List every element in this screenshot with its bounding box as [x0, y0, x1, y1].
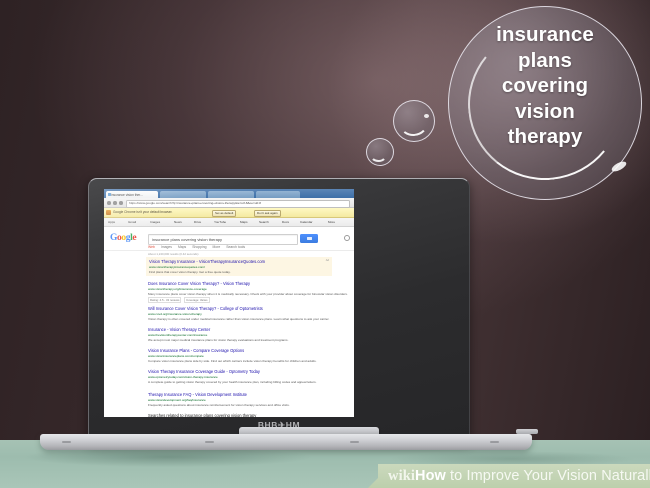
bookmark-gmail[interactable]: Gmail: [128, 220, 136, 224]
reload-icon[interactable]: [119, 201, 123, 205]
base-foot-mid-right: [350, 441, 359, 443]
bookmark-news[interactable]: News: [174, 220, 182, 224]
result-snippet: Frequently asked questions about insuran…: [148, 403, 348, 407]
result-snippet: A complete guide to getting vision thera…: [148, 380, 348, 384]
infobar-secondary-button[interactable]: Don't ask again: [254, 210, 281, 218]
bookmark-calendar[interactable]: Calendar: [300, 220, 313, 224]
gear-icon[interactable]: [344, 235, 350, 241]
result-title[interactable]: Will Insurance Cover Vision Therapy? - C…: [148, 306, 348, 311]
result-rating-value: Rating: 4.5 - 32 reviews: [148, 297, 181, 303]
search-result-5: Vision Therapy Insurance Coverage Guide …: [148, 369, 348, 384]
google-header-divider: [104, 250, 354, 251]
wikihow-brand-wiki: wiki: [388, 468, 415, 484]
result-snippet: Many insurance plans cover vision therap…: [148, 292, 348, 296]
address-bar-url: https://www.google.com/search?q=insuranc…: [129, 201, 261, 205]
result-snippet: Compare vision insurance plans side by s…: [148, 359, 348, 363]
google-nav-maps[interactable]: Maps: [178, 245, 186, 249]
ad-title[interactable]: Vision Therapy Insurance - VisionTherapy…: [149, 259, 329, 264]
google-nav-search-tools[interactable]: Search tools: [226, 245, 245, 249]
result-ratings: Rating: 4.5 - 32 reviews Coverage: Varie…: [148, 297, 348, 303]
wikihow-title: to Improve Your Vision Naturally: [446, 468, 650, 484]
google-results-page: Google insurance plans covering vision t…: [104, 227, 354, 417]
browser-tab-2[interactable]: [160, 191, 206, 199]
thought-bubble-text: insurance plans covering vision therapy: [448, 22, 642, 150]
bookmark-docs[interactable]: Docs: [282, 220, 289, 224]
chrome-infobar: Google Chrome isn't your default browser…: [104, 208, 354, 218]
chrome-logo-icon: [106, 210, 111, 215]
bookmark-search[interactable]: Search: [259, 220, 269, 224]
result-coverage-value: Coverage: Varies: [184, 297, 209, 303]
result-title[interactable]: Vision Insurance Plans - Compare Coverag…: [148, 348, 348, 353]
browser-tab-4[interactable]: [256, 191, 300, 199]
google-nav-shopping[interactable]: Shopping: [192, 245, 206, 249]
result-url: www.visiontherapy.org/insurance-coverage: [148, 287, 348, 291]
search-result-3: Insurance - Vision Therapy Center www.th…: [148, 327, 348, 342]
google-search-input[interactable]: insurance plans covering vision therapy: [148, 234, 298, 245]
bookmark-maps[interactable]: Maps: [240, 220, 248, 224]
browser-tab-strip: insurance vision ther...: [104, 189, 354, 198]
laptop-side-port: [516, 429, 538, 434]
thought-line-1: insurance: [448, 22, 642, 48]
thought-line-5: therapy: [448, 124, 642, 150]
browser-toolbar: https://www.google.com/search?q=insuranc…: [104, 198, 354, 208]
browser-tab-3[interactable]: [208, 191, 254, 199]
thought-line-3: covering: [448, 73, 642, 99]
base-foot-right: [490, 441, 499, 443]
bookmark-drive[interactable]: Drive: [194, 220, 201, 224]
search-result-4: Vision Insurance Plans - Compare Coverag…: [148, 348, 348, 363]
result-snippet: Vision therapy is often covered under me…: [148, 317, 348, 321]
search-result-2: Will Insurance Cover Vision Therapy? - C…: [148, 306, 348, 321]
result-title[interactable]: Insurance - Vision Therapy Center: [148, 327, 348, 332]
laptop-screen: insurance vision ther... https://www.goo…: [104, 189, 354, 417]
wikihow-banner-text: wikiHow to Improve Your Vision Naturally: [388, 468, 646, 485]
base-foot-mid-left: [205, 441, 214, 443]
screenshot-scene: insurance plans covering vision therapy …: [0, 0, 650, 488]
address-bar[interactable]: https://www.google.com/search?q=insuranc…: [126, 200, 350, 208]
bookmark-apps[interactable]: Apps: [108, 220, 115, 224]
bookmark-images[interactable]: Images: [150, 220, 160, 224]
base-foot-left: [62, 441, 71, 443]
google-nav-more[interactable]: More: [213, 245, 221, 249]
thought-bubble-medium-glint: [424, 114, 429, 118]
tab-title: insurance vision ther...: [111, 193, 153, 197]
ad-label: Ad: [326, 259, 329, 262]
bookmark-more[interactable]: More: [328, 220, 335, 224]
infobar-message: Google Chrome isn't your default browser…: [113, 210, 172, 214]
google-nav-images[interactable]: Images: [161, 245, 172, 249]
browser-tab-active[interactable]: insurance vision ther...: [106, 191, 158, 199]
result-url: www.thevisiontherapycenter.com/insurance: [148, 333, 348, 337]
bookmarks-bar: Apps Gmail Images News Drive YouTube Map…: [104, 218, 354, 227]
wikihow-brand-how: How: [415, 468, 446, 484]
result-url: www.optometrytoday.com/vision-therapy-in…: [148, 375, 348, 379]
thought-bubble-small-highlight: [370, 148, 387, 162]
bookmark-youtube[interactable]: YouTube: [214, 220, 226, 224]
result-url: www.covd.org/insurance-vision-therapy: [148, 312, 348, 316]
laptop-base: [40, 434, 532, 450]
thought-line-4: vision: [448, 99, 642, 125]
result-url: www.visiondevelopment.org/faq/insurance: [148, 398, 348, 402]
ad-url: www.visiontherapyinsurancequotes.com/: [149, 265, 329, 269]
google-ad-block: Ad Vision Therapy Insurance - VisionTher…: [146, 257, 332, 276]
result-snippet: We accept most major medical insurance p…: [148, 338, 348, 342]
google-logo[interactable]: Google: [110, 233, 136, 243]
google-nav-tabs: Web Images Maps Shopping More Search too…: [148, 245, 250, 249]
back-arrow-icon[interactable]: [107, 201, 111, 205]
infobar-primary-button[interactable]: Set as default: [212, 210, 236, 218]
google-results-stats: About 1,240,000 results (0.42 seconds): [148, 252, 198, 256]
ad-snippet: Find plans that cover vision therapy. Ge…: [149, 270, 329, 274]
search-result-1: Does Insurance Cover Vision Therapy? - V…: [148, 281, 348, 303]
google-search-query: insurance plans covering vision therapy: [152, 237, 222, 242]
search-result-6: Therapy Insurance FAQ - Vision Developme…: [148, 392, 348, 407]
result-title[interactable]: Vision Therapy Insurance Coverage Guide …: [148, 369, 348, 374]
result-title[interactable]: Does Insurance Cover Vision Therapy? - V…: [148, 281, 348, 286]
related-searches: Searches related to insurance plans cove…: [148, 413, 348, 417]
google-search-button[interactable]: [300, 234, 318, 243]
result-url: www.visioninsuranceplans.com/compare: [148, 354, 348, 358]
related-searches-heading: Searches related to insurance plans cove…: [148, 413, 348, 417]
thought-line-2: plans: [448, 48, 642, 74]
forward-arrow-icon[interactable]: [113, 201, 117, 205]
result-title[interactable]: Therapy Insurance FAQ - Vision Developme…: [148, 392, 348, 397]
search-icon: [307, 237, 312, 240]
